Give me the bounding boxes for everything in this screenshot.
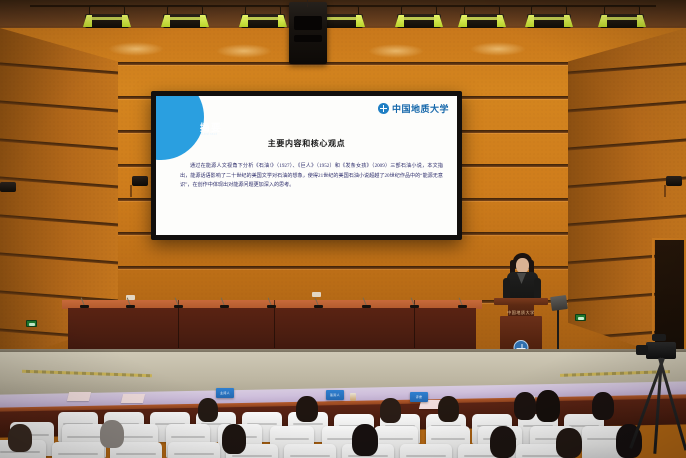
audience-member	[8, 424, 32, 452]
audience-seat	[168, 442, 220, 458]
wall-socket-plate	[312, 292, 321, 297]
monitor-stand	[557, 309, 559, 351]
audience-seat	[52, 442, 104, 458]
presenter	[500, 252, 544, 304]
audience-seat	[284, 444, 336, 458]
audience-member	[380, 398, 401, 423]
stage-light	[241, 5, 285, 31]
podium-name-text: 中国地质大学	[500, 310, 542, 316]
audience-member	[296, 396, 318, 422]
drinking-cup	[350, 393, 356, 401]
emergency-exit-sign	[575, 314, 586, 321]
slide-title: 主要内容和核心观点	[156, 138, 457, 149]
stage-light	[600, 5, 644, 31]
audience-member	[198, 398, 218, 422]
paper-sheet	[121, 394, 145, 403]
audience-member	[100, 420, 124, 448]
lighting-truss	[0, 3, 686, 37]
slide-section-badge	[156, 96, 204, 160]
ceiling-light-glow	[368, 44, 424, 58]
stage-light	[460, 5, 504, 31]
slide-canvas: 摘要 Abstract 中国地质大学 主要内容和核心观点 通过在能源人文视角下分…	[156, 96, 457, 235]
name-placard-label: 答辩人	[326, 390, 344, 400]
slide-badge-sublabel: Abstract	[201, 132, 217, 136]
audience-member	[222, 424, 246, 454]
name-placard: 答辩人	[326, 390, 344, 400]
audience-member	[514, 392, 536, 420]
stage-light	[527, 5, 571, 31]
gooseneck-microphone	[314, 298, 323, 308]
gooseneck-microphone	[80, 298, 89, 308]
name-placard-label: 评委	[410, 392, 428, 402]
gooseneck-microphone	[410, 298, 419, 308]
audience-member	[556, 428, 582, 458]
stage-light	[397, 5, 441, 31]
name-placard: 评委	[410, 392, 428, 402]
gooseneck-microphone	[267, 298, 276, 308]
projection-screen[interactable]: 摘要 Abstract 中国地质大学 主要内容和核心观点 通过在能源人文视角下分…	[151, 91, 462, 240]
slide-body-text: 通过在能源人文视角下分析《石油!》（1927）、《巨人》（1952）和《发条女孩…	[180, 162, 443, 191]
gooseneck-microphone	[126, 298, 135, 308]
gooseneck-microphone	[362, 298, 371, 308]
audience-member	[490, 426, 516, 458]
audience-member	[438, 396, 459, 422]
audience-member	[592, 392, 614, 420]
gooseneck-microphone	[174, 298, 183, 308]
audience-member	[536, 390, 560, 422]
presenter-head	[516, 258, 529, 273]
audience-seat	[400, 444, 452, 458]
university-logo: 中国地质大学	[378, 102, 449, 115]
gooseneck-microphone	[220, 298, 229, 308]
lecture-hall-photo: 摘要 Abstract 中国地质大学 主要内容和核心观点 通过在能源人文视角下分…	[0, 0, 686, 458]
ceiling-speaker	[289, 2, 327, 64]
ceiling-light-glow	[108, 42, 164, 56]
name-placard: 主持人	[216, 388, 234, 398]
audience-member	[352, 424, 378, 456]
name-placard-label: 主持人	[216, 388, 234, 398]
university-logo-text: 中国地质大学	[392, 102, 449, 115]
stage-light	[163, 5, 207, 31]
ceiling-light-glow	[470, 42, 526, 56]
confidence-monitor	[550, 295, 568, 311]
panel-desk	[62, 300, 482, 356]
university-crest-icon	[378, 103, 389, 114]
ceiling-light-glow	[216, 44, 272, 58]
video-camera	[640, 338, 684, 456]
wall-speaker	[666, 176, 682, 186]
wall-speaker	[0, 182, 16, 192]
wall-speaker	[132, 176, 148, 186]
paper-sheet	[67, 392, 91, 401]
gooseneck-microphone	[458, 298, 467, 308]
emergency-exit-sign	[26, 320, 37, 327]
stage-light	[85, 5, 129, 31]
